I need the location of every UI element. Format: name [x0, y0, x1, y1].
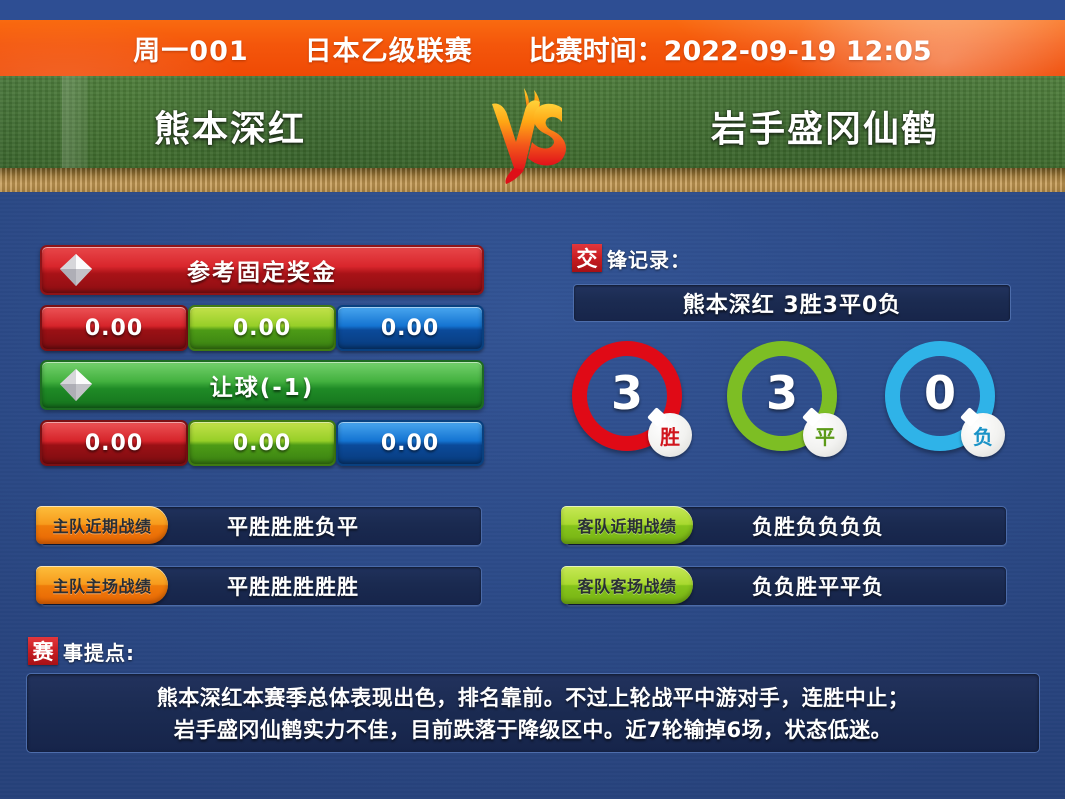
h2h-title-glyph: 交: [572, 244, 602, 272]
h2h-title-rest: 锋记录：: [607, 244, 691, 273]
h2h-draw-badge-label: 平: [815, 421, 835, 450]
notes-line-1: 熊本深红本赛季总体表现出色，排名靠前。不过上轮战平中游对手，连胜中止；: [157, 682, 910, 712]
notes-section-title: 赛 事提点:: [28, 636, 135, 666]
header-bar: 周一001 日本乙级联赛 比赛时间：2022-09-19 12:05: [0, 20, 1065, 76]
handicap-lose-button[interactable]: 0.00: [336, 420, 484, 466]
kickoff-time: 比赛时间：2022-09-19 12:05: [529, 29, 932, 68]
home-home-record-label: 主队主场战绩: [52, 573, 151, 597]
h2h-lose-ring: 0 负: [885, 341, 995, 451]
fixed-bonus-draw-value: 0.00: [233, 316, 291, 341]
h2h-win-ring: 3 胜: [572, 341, 682, 451]
h2h-draw-ring: 3 平: [727, 341, 837, 451]
h2h-draw-badge: 平: [803, 413, 847, 457]
fixed-bonus-win-button[interactable]: 0.00: [40, 305, 188, 351]
fixed-bonus-lose-value: 0.00: [381, 316, 439, 341]
notes-box: 熊本深红本赛季总体表现出色，排名靠前。不过上轮战平中游对手，连胜中止； 岩手盛冈…: [26, 673, 1040, 753]
fixed-bonus-draw-button[interactable]: 0.00: [188, 305, 336, 351]
home-team-name: 熊本深红: [0, 100, 460, 152]
fixed-bonus-lose-button[interactable]: 0.00: [336, 305, 484, 351]
handicap-win-button[interactable]: 0.00: [40, 420, 188, 466]
notes-title-glyph: 赛: [28, 637, 58, 665]
notes-title-rest: 事提点:: [63, 637, 135, 666]
vs-flame-icon: [478, 82, 582, 186]
match-preview-card: 周一001 日本乙级联赛 比赛时间：2022-09-19 12:05 熊本深红 …: [0, 0, 1065, 799]
home-home-record-tab[interactable]: 主队主场战绩: [36, 566, 168, 604]
away-away-record-label: 客队客场战绩: [577, 573, 676, 597]
home-recent-record-value: 平胜胜胜负平: [163, 511, 359, 541]
h2h-summary-text: 熊本深红 3胜3平0负: [683, 287, 902, 319]
h2h-lose-badge: 负: [961, 413, 1005, 457]
away-recent-record-tab[interactable]: 客队近期战绩: [561, 506, 693, 544]
h2h-lose-badge-label: 负: [973, 421, 993, 450]
h2h-win-badge: 胜: [648, 413, 692, 457]
away-away-record-tab[interactable]: 客队客场战绩: [561, 566, 693, 604]
away-recent-record-label: 客队近期战绩: [577, 513, 676, 537]
handicap-draw-value: 0.00: [233, 431, 291, 456]
handicap-banner: 让球(-1): [40, 360, 484, 410]
league-name: 日本乙级联赛: [305, 29, 473, 68]
handicap-win-value: 0.00: [85, 431, 143, 456]
h2h-section-title: 交 锋记录：: [572, 243, 691, 273]
handicap-lose-value: 0.00: [381, 431, 439, 456]
h2h-summary-box: 熊本深红 3胜3平0负: [573, 284, 1011, 322]
diamond-icon: [56, 250, 96, 290]
away-recent-record-value: 负胜负负负负: [688, 511, 884, 541]
notes-line-2: 岩手盛冈仙鹤实力不佳，目前跌落于降级区中。近7轮输掉6场，状态低迷。: [174, 714, 892, 744]
h2h-win-badge-label: 胜: [660, 421, 680, 450]
handicap-title: 让球(-1): [210, 368, 315, 402]
away-team-name: 岩手盛冈仙鹤: [590, 100, 1060, 152]
away-away-record-value: 负负胜平平负: [688, 571, 884, 601]
fixed-bonus-banner: 参考固定奖金: [40, 245, 484, 295]
fixed-bonus-title: 参考固定奖金: [187, 253, 337, 287]
home-home-record-value: 平胜胜胜胜胜: [163, 571, 359, 601]
handicap-draw-button[interactable]: 0.00: [188, 420, 336, 466]
match-number: 周一001: [133, 29, 248, 68]
fixed-bonus-win-value: 0.00: [85, 316, 143, 341]
diamond-icon: [56, 365, 96, 405]
home-recent-record-tab[interactable]: 主队近期战绩: [36, 506, 168, 544]
home-recent-record-label: 主队近期战绩: [52, 513, 151, 537]
